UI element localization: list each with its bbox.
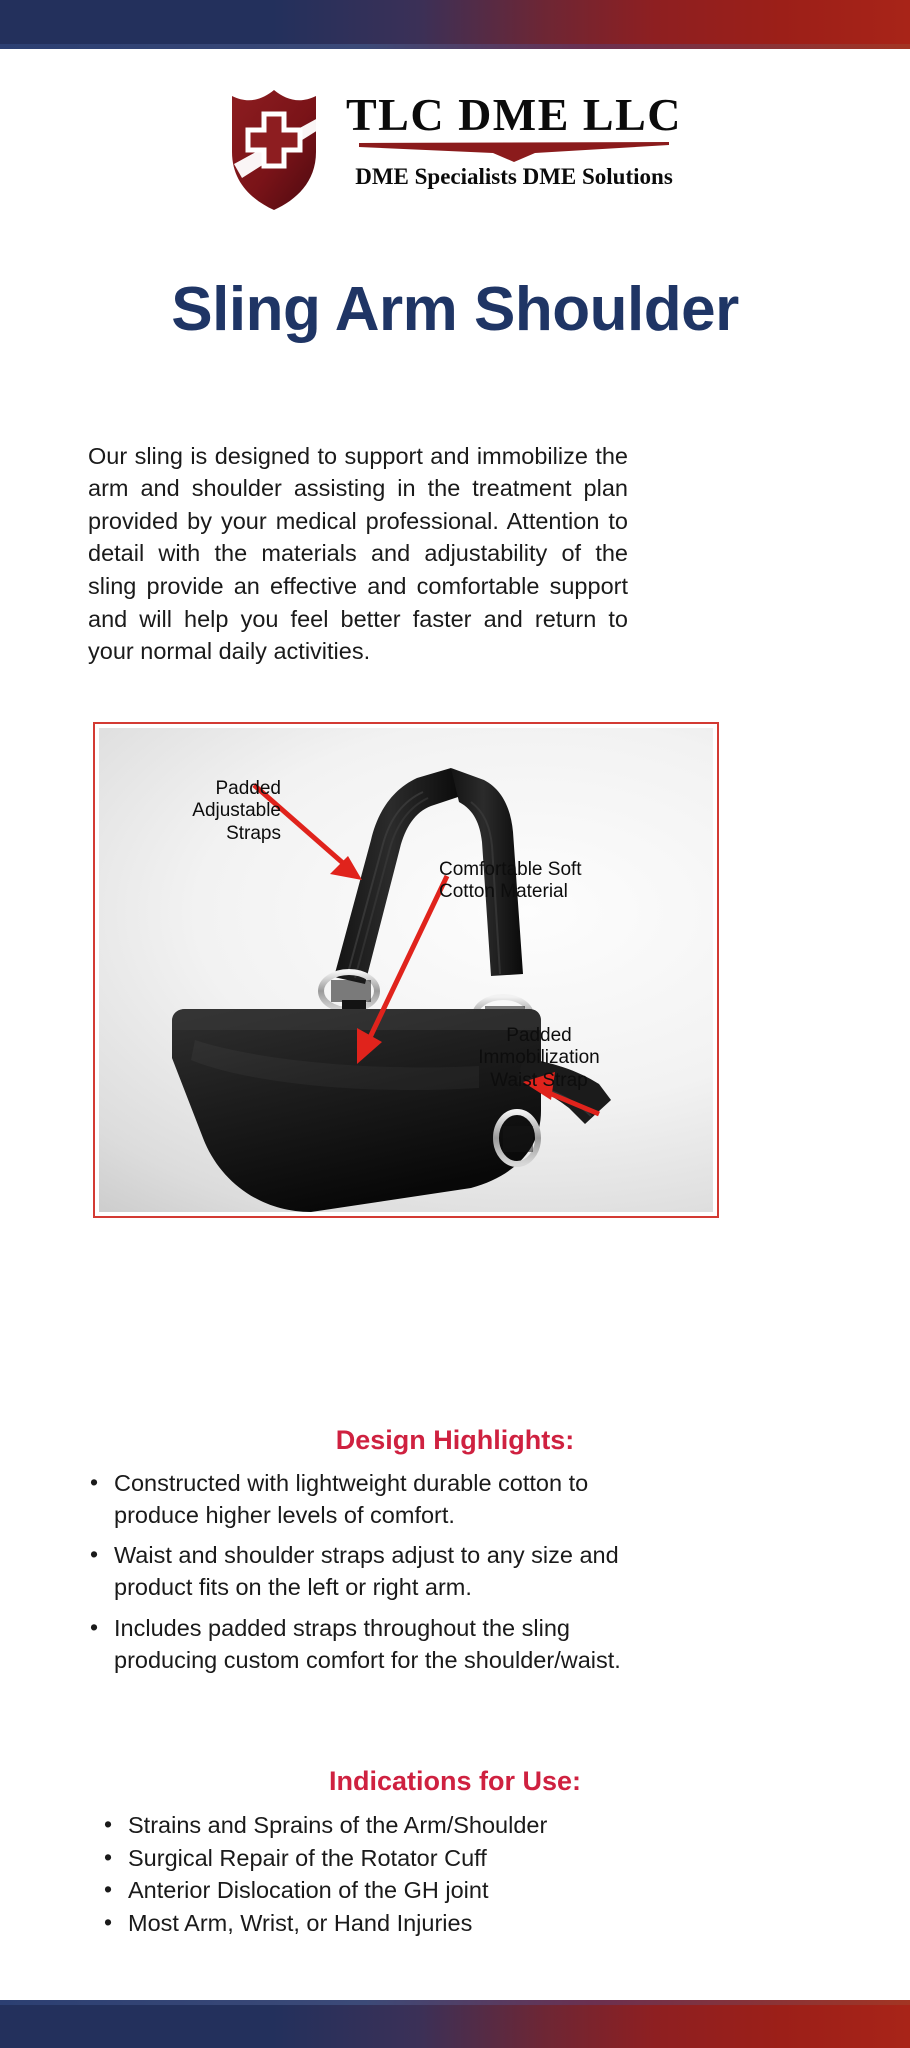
shield-cross-logo-icon <box>228 86 320 211</box>
brand-wordmark: TLC DME LLC DME Specialists DME Solution… <box>346 86 682 188</box>
brand-swoosh-divider-icon <box>359 142 669 163</box>
list-item: Waist and shoulder straps adjust to any … <box>88 1540 638 1603</box>
brand-header: TLC DME LLC DME Specialists DME Solution… <box>0 86 910 211</box>
brand-name: TLC DME LLC <box>346 92 682 138</box>
bottom-banner-bar <box>0 2005 910 2048</box>
list-item: Most Arm, Wrist, or Hand Injuries <box>102 1908 662 1940</box>
product-image-frame: Padded Adjustable Straps Comfortable Sof… <box>93 722 719 1218</box>
list-item: Constructed with lightweight durable cot… <box>88 1468 638 1531</box>
indications-for-use-heading: Indications for Use: <box>0 1766 910 1797</box>
design-highlights-heading: Design Highlights: <box>0 1425 910 1456</box>
intro-paragraph: Our sling is designed to support and imm… <box>88 440 628 669</box>
brand-tagline: DME Specialists DME Solutions <box>355 165 673 188</box>
top-banner-bar <box>0 0 910 44</box>
list-item: Strains and Sprains of the Arm/Shoulder <box>102 1810 662 1842</box>
callout-label-padded-immobilization-waist-strap: Padded Immobilization Waist Strap <box>439 1025 639 1092</box>
callout-label-padded-adjustable-straps: Padded Adjustable Straps <box>121 778 281 845</box>
indications-for-use-list: Strains and Sprains of the Arm/Shoulder … <box>102 1810 662 1941</box>
design-highlights-list: Constructed with lightweight durable cot… <box>88 1468 638 1685</box>
page-title: Sling Arm Shoulder <box>0 277 910 342</box>
callout-label-comfortable-soft-cotton-material: Comfortable Soft Cotton Material <box>439 859 639 904</box>
list-item: Surgical Repair of the Rotator Cuff <box>102 1843 662 1875</box>
product-photo: Padded Adjustable Straps Comfortable Sof… <box>99 728 713 1212</box>
list-item: Includes padded straps throughout the sl… <box>88 1613 638 1676</box>
list-item: Anterior Dislocation of the GH joint <box>102 1875 662 1907</box>
top-banner-underline <box>0 44 910 49</box>
